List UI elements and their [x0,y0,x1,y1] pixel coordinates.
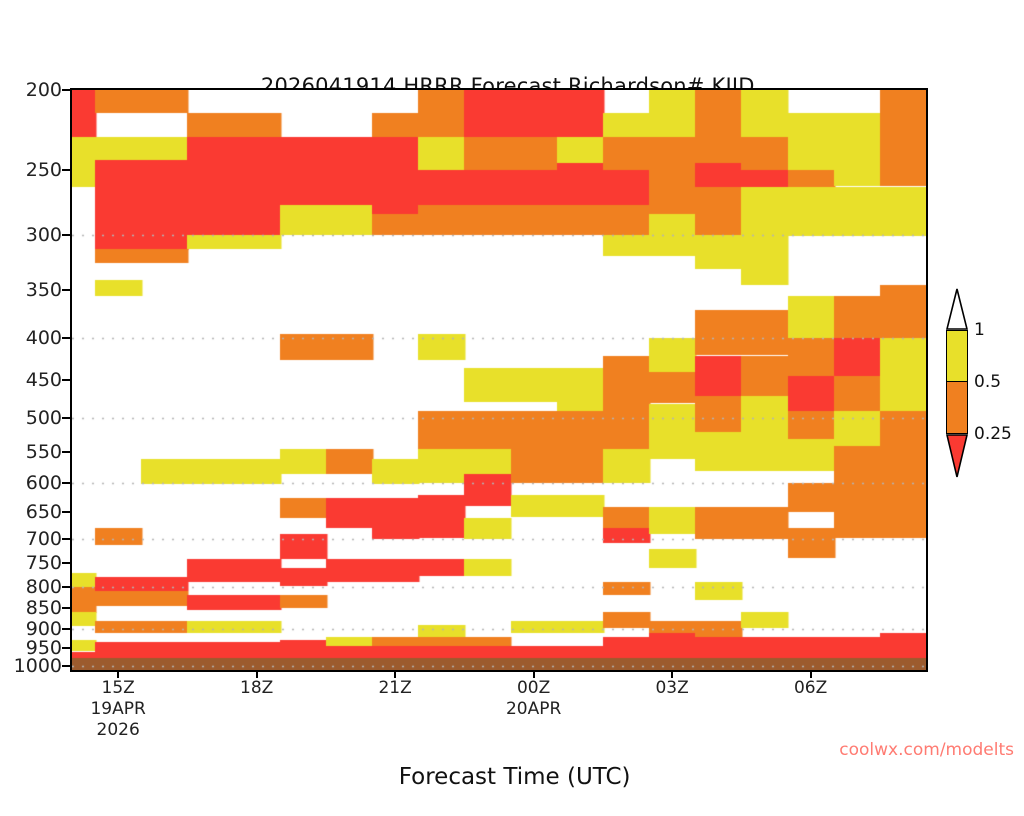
colorbar-tick-label: 0.25 [974,424,1012,444]
x-tick-label: 06Z [794,678,827,699]
x-tick-mark [256,670,258,678]
colorbar-tick-label: 0.5 [974,372,1001,392]
x-tick-mark [533,670,535,678]
x-tick-label: 15Z 19APR 2026 [90,678,145,741]
colorbar-lower-arrow [946,434,968,476]
x-tick-mark [117,670,119,678]
x-tick-label: 00Z 20APR [506,678,561,720]
x-tick-label: 18Z [240,678,273,699]
x-tick-mark [394,670,396,678]
chart-root: 2026041914 HRRR Forecast Richardson# KIJ… [0,0,1024,768]
attribution-text: coolwx.com/modelts [839,740,1014,760]
colorbar-tick-label: 1 [974,320,985,340]
colorbar-upper-arrow [946,288,968,330]
x-tick-label: 03Z [655,678,688,699]
x-axis: 15Z 19APR 202618Z21Z00Z 20APR03Z06Z [0,0,1024,768]
colorbar-body[interactable] [946,330,968,434]
x-tick-mark [671,670,673,678]
x-tick-label: 21Z [378,678,411,699]
colorbar-segment [946,382,968,434]
colorbar-segment [946,330,968,382]
x-tick-mark [810,670,812,678]
colorbar-legend[interactable]: 10.50.25 [938,288,1024,478]
